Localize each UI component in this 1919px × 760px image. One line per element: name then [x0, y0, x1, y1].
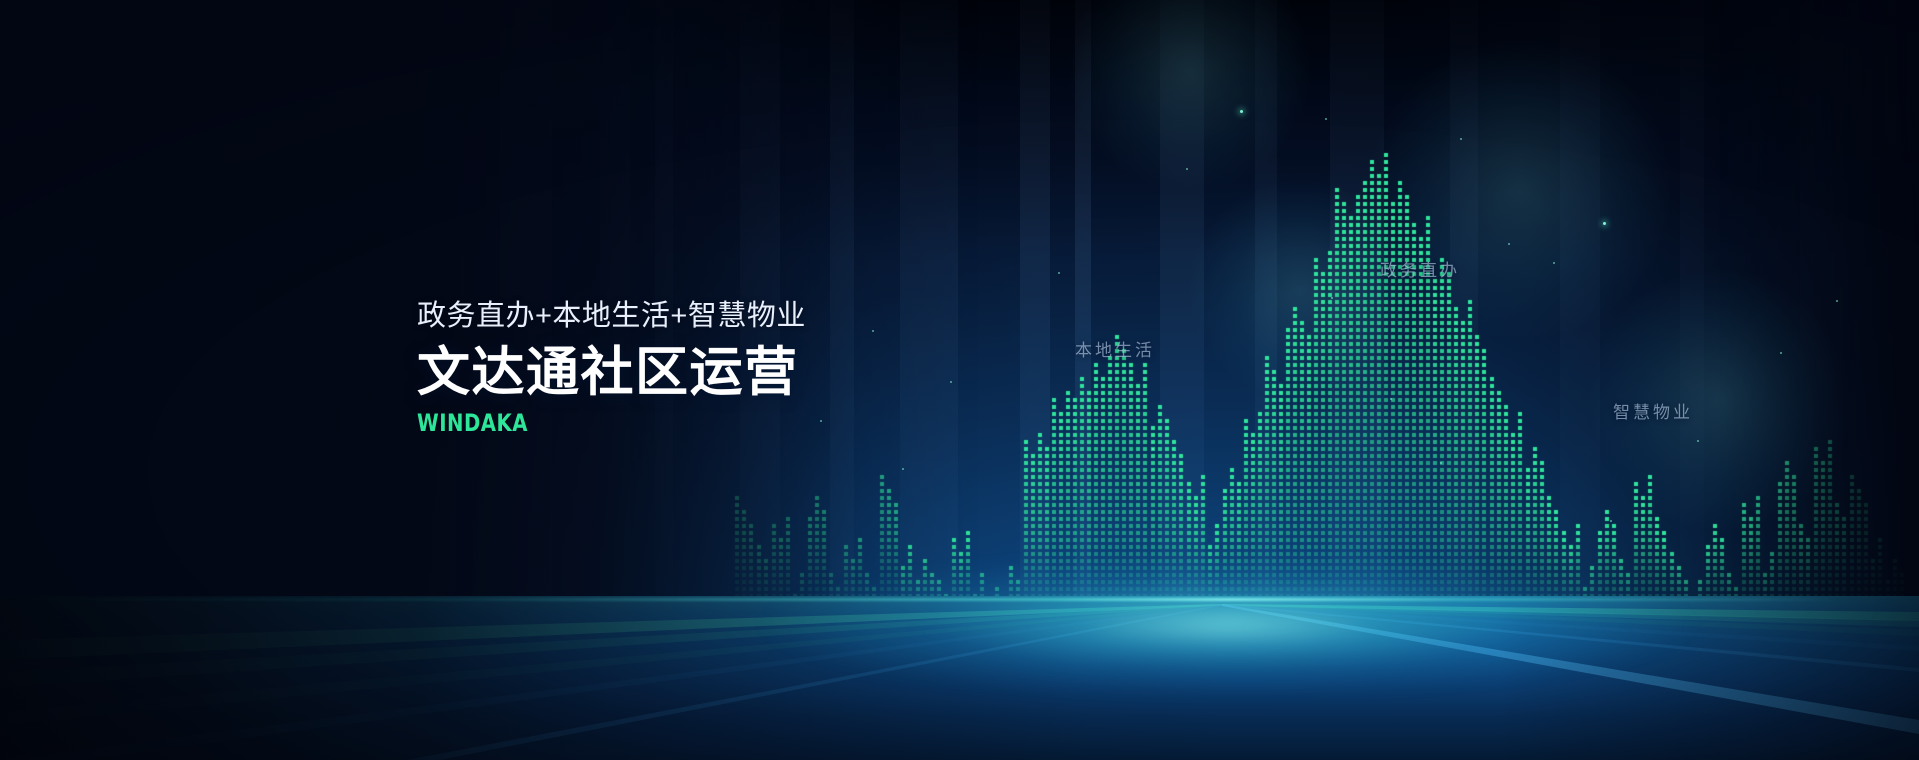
banner-hero: 本地生活 政务直办 智慧物业 政务直办+本地生活+智慧物业 文达通社区运营 WI… [0, 0, 1919, 760]
horizon-line [0, 598, 1919, 601]
hero-copy-block: 政务直办+本地生活+智慧物业 文达通社区运营 WINDAKA [417, 296, 806, 437]
city-label-smart-property: 智慧物业 [1613, 398, 1693, 423]
brand-wordmark: WINDAKA [417, 409, 736, 437]
horizon-glow [700, 520, 1800, 700]
hero-subtitle: 政务直办+本地生活+智慧物业 [417, 296, 806, 336]
city-label-gov-service: 政务直办 [1380, 256, 1460, 281]
city-label-local-life: 本地生活 [1075, 336, 1155, 361]
hero-headline: 文达通社区运营 [417, 340, 806, 406]
